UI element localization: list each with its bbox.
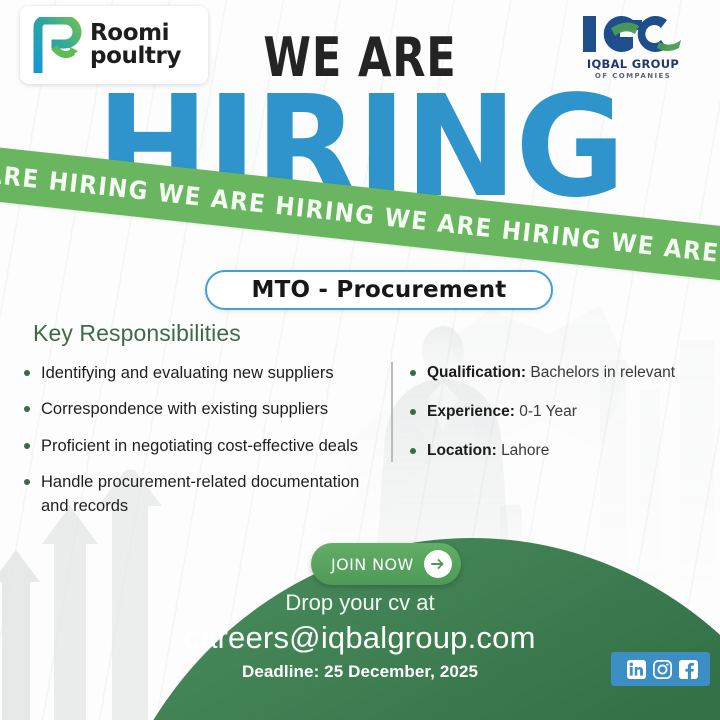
list-item: Proficient in negotiating cost-effective…	[18, 435, 384, 458]
drop-cv-text: Drop your cv at	[0, 590, 720, 616]
requirement-label: Qualification:	[427, 364, 526, 381]
requirements-column: Qualification: Bachelors in relevant Exp…	[404, 362, 716, 479]
arrow-right-icon	[424, 550, 452, 578]
requirement-label: Experience:	[427, 403, 515, 420]
list-item: Location: Lahore	[404, 440, 716, 462]
join-now-button[interactable]: JOIN NOW	[311, 543, 461, 585]
hiring-poster: Roomi poultry IQBAL GROUP OF COMPANIES W…	[0, 0, 720, 720]
facebook-icon[interactable]	[679, 660, 698, 679]
requirement-value: 0-1 Year	[519, 403, 577, 420]
requirement-value: Bachelors in relevant	[530, 364, 675, 381]
column-divider	[391, 362, 393, 462]
contact-email[interactable]: careers@iqbalgroup.com	[0, 620, 720, 656]
responsibilities-column: Identifying and evaluating new suppliers…	[18, 362, 384, 531]
requirements-list: Qualification: Bachelors in relevant Exp…	[404, 362, 716, 462]
list-item: Correspondence with existing suppliers	[18, 398, 384, 421]
responsibilities-list: Identifying and evaluating new suppliers…	[18, 362, 384, 518]
requirement-label: Location:	[427, 442, 497, 459]
job-title-badge: MTO - Procurement	[205, 270, 553, 310]
list-item: Qualification: Bachelors in relevant	[404, 362, 716, 384]
list-item: Handle procurement-related documentation…	[18, 471, 384, 518]
list-item: Experience: 0-1 Year	[404, 401, 716, 423]
page-title: Key Responsibilities	[33, 320, 241, 347]
list-item: Identifying and evaluating new suppliers	[18, 362, 384, 385]
job-title: MTO - Procurement	[252, 277, 507, 303]
instagram-icon[interactable]	[653, 660, 672, 679]
join-now-label: JOIN NOW	[331, 555, 414, 574]
requirement-value: Lahore	[501, 442, 549, 459]
linkedin-icon[interactable]	[627, 660, 646, 679]
social-links-bar	[611, 652, 710, 686]
